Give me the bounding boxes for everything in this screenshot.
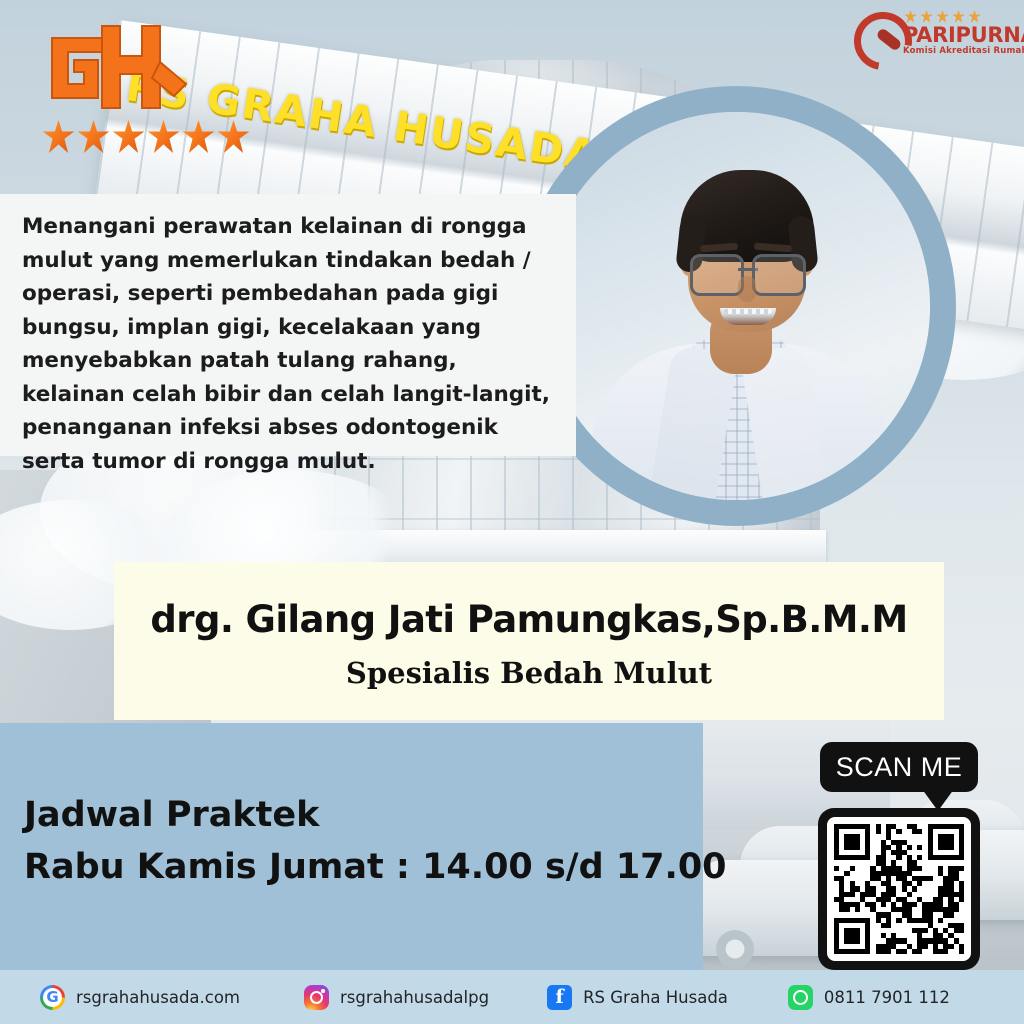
doctor-name: drg. Gilang Jati Pamungkas,Sp.B.M.M [114,598,944,641]
footer-item-website[interactable]: rsgrahahusada.com [40,985,240,1010]
star-icon [920,10,933,23]
footer-item-whatsapp[interactable]: 0811 7901 112 [788,985,950,1010]
star-icon [42,120,75,153]
gh-monogram-svg [24,22,214,127]
qr-code-modules [834,824,964,954]
doctor-braces [724,309,772,314]
star-icon [968,10,981,23]
rating-stars [42,120,250,153]
doctor-nose [738,276,756,302]
accreditation-title: PARIPURNA [903,23,1024,47]
glasses-lens [752,254,806,296]
footer-item-facebook[interactable]: RS Graha Husada [547,985,728,1010]
poster-root: RS GRAHA HUSADA PA [0,0,1024,1024]
instagram-icon [304,985,329,1010]
whatsapp-icon [788,985,813,1010]
car-wheel [716,930,754,968]
doctor-photo [542,112,930,500]
accreditation-subtitle: Komisi Akreditasi Rumah Sakit [903,46,1024,56]
star-icon [147,120,180,153]
footer-label-website: rsgrahahusada.com [76,988,240,1007]
gh-monogram-icon [24,22,214,142]
footer-label-facebook: RS Graha Husada [583,988,728,1007]
doctor-name-banner: drg. Gilang Jati Pamungkas,Sp.B.M.M Spes… [114,562,944,720]
description-panel: Menangani perawatan kelainan di rongga m… [0,194,576,456]
qr-code-inner [827,817,971,961]
accreditation-stars [904,10,981,23]
schedule-panel: Jadwal Praktek Rabu Kamis Jumat : 14.00 … [0,723,703,971]
qr-code[interactable] [818,808,980,970]
schedule-title: Jadwal Praktek [24,795,319,835]
footer-label-instagram: rsgrahahusadalpg [340,988,489,1007]
star-icon [217,120,250,153]
scan-me-badge: SCAN ME [820,742,978,792]
glasses-lens [690,254,744,296]
footer-label-whatsapp: 0811 7901 112 [824,988,950,1007]
star-icon [952,10,965,23]
scan-me-label: SCAN ME [820,742,978,792]
star-icon [936,10,949,23]
schedule-days-time: Rabu Kamis Jumat : 14.00 s/d 17.00 [24,847,727,887]
google-icon [40,985,65,1010]
accreditation-badge: PARIPURNA Komisi Akreditasi Rumah Sakit [854,8,1006,60]
facebook-icon [547,985,572,1010]
star-icon [77,120,110,153]
footer-item-instagram[interactable]: rsgrahahusadalpg [304,985,489,1010]
star-icon [112,120,145,153]
star-icon [182,120,215,153]
doctor-specialty: Spesialis Bedah Mulut [114,656,944,690]
description-text: Menangani perawatan kelainan di rongga m… [22,210,562,478]
footer-bar: rsgrahahusada.com rsgrahahusadalpg RS Gr… [0,970,1024,1024]
star-icon [904,10,917,23]
